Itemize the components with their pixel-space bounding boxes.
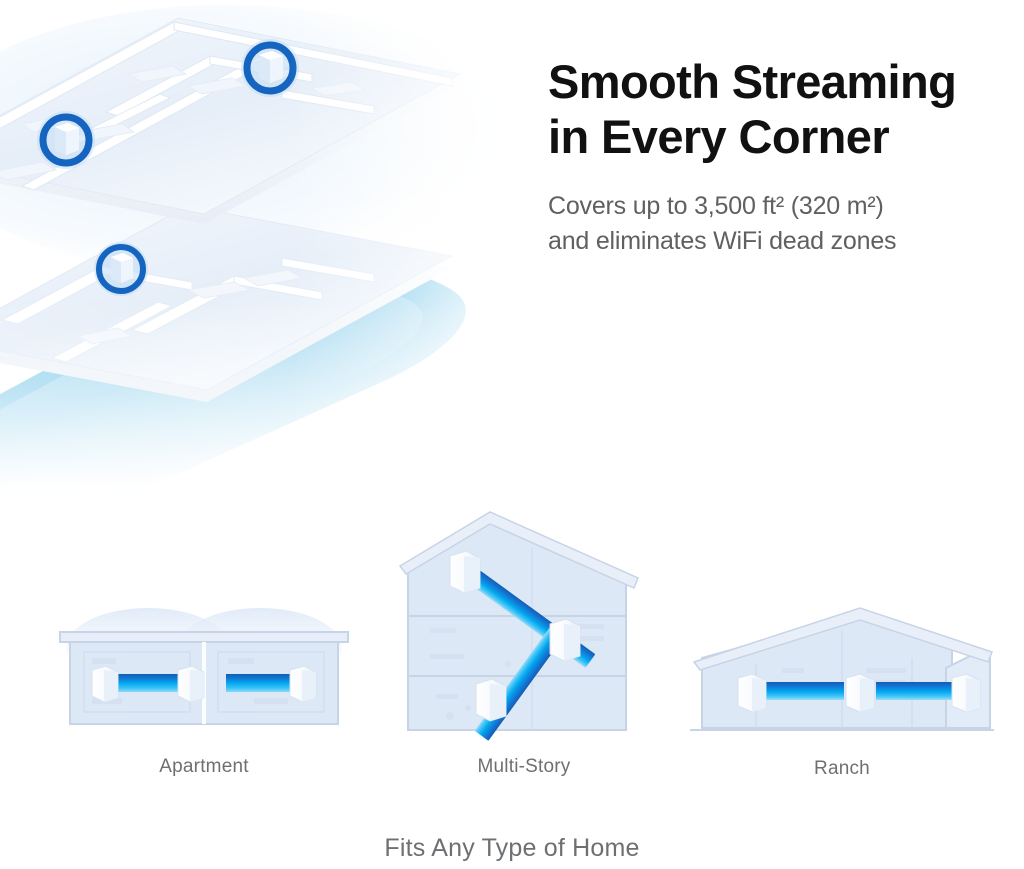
apartment-roof: [60, 632, 348, 642]
multi-story-house-icon: [390, 504, 658, 750]
home-types-section: Apartment: [0, 498, 1024, 798]
mesh-beam-left: [114, 674, 182, 692]
hero-subtitle: Covers up to 3,500 ft² (320 m²) and elim…: [548, 189, 1024, 260]
isometric-floorplan-illustration: [0, 0, 542, 490]
mesh-unit-multistory-middle: [550, 619, 580, 661]
mesh-unit-apartment-1: [92, 666, 118, 702]
home-types-caption: Fits Any Type of Home: [0, 834, 1024, 863]
home-type-apartment: Apartment: [48, 590, 360, 778]
mesh-unit-multistory-top: [450, 551, 480, 593]
mesh-unit-apartment-2: [178, 666, 204, 702]
home-type-ranch: Ranch: [690, 606, 994, 780]
home-type-label-multi-story: Multi-Story: [390, 756, 658, 778]
hero-section: Smooth Streaming in Every Corner Covers …: [0, 0, 1024, 490]
page-title: Smooth Streaming in Every Corner: [548, 55, 1024, 165]
mesh-unit-ranch-1: [738, 674, 766, 712]
mesh-unit-multistory-bottom: [476, 679, 506, 721]
mesh-beam-left: [766, 682, 844, 700]
hero-copy: Smooth Streaming in Every Corner Covers …: [548, 55, 1024, 260]
ranch-house-icon: [690, 606, 994, 752]
mesh-beam-right: [226, 674, 294, 692]
home-type-label-apartment: Apartment: [48, 756, 360, 778]
mesh-unit-ranch-3: [952, 674, 980, 712]
home-type-label-ranch: Ranch: [690, 758, 994, 780]
fade-bottom-mask: [0, 0, 542, 490]
home-type-multi-story: Multi-Story: [390, 504, 658, 778]
mesh-unit-ranch-2: [846, 674, 874, 712]
mesh-unit-apartment-3: [290, 666, 316, 702]
mesh-beam-right: [876, 682, 954, 700]
apartment-building-icon: [48, 590, 360, 750]
product-feature-image: Smooth Streaming in Every Corner Covers …: [0, 0, 1024, 869]
